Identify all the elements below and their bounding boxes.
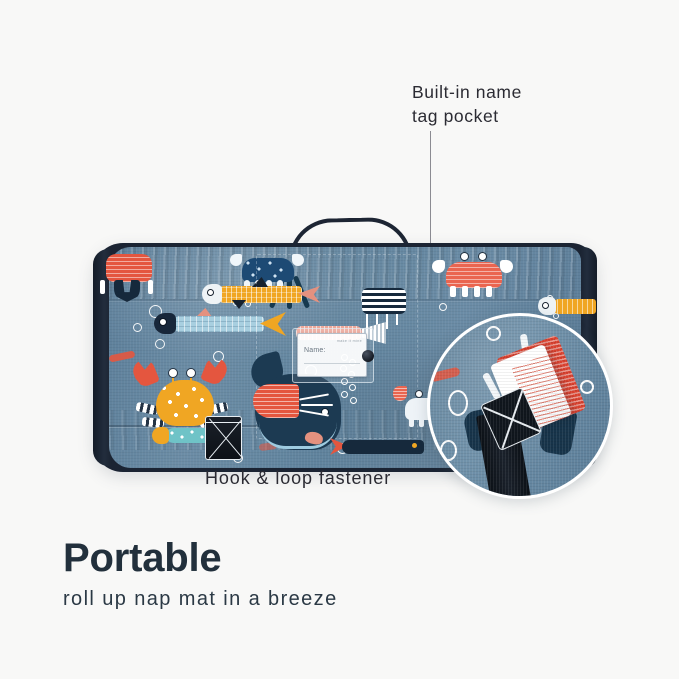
coral-streak-motif xyxy=(429,367,460,383)
crab-motif-coral-top xyxy=(432,248,516,300)
hook-loop-closeup-inset xyxy=(427,313,613,499)
page-subtitle: roll up nap mat in a breeze xyxy=(63,588,338,611)
name-tag-write-line xyxy=(304,363,360,364)
hook-loop-fastener-tab[interactable] xyxy=(205,416,242,460)
name-tag-field-label: Name: xyxy=(304,347,326,354)
name-tag-snap-dot xyxy=(362,350,374,362)
headline-block: Portable roll up nap mat in a breeze xyxy=(63,536,338,611)
crab-motif-coral-edge xyxy=(98,254,160,312)
name-tag-brand-mark: make it mine xyxy=(337,339,362,343)
fish-motif-navy xyxy=(330,436,442,458)
infographic-canvas: Built-in name tag pocket xyxy=(0,0,679,679)
bubble-motif xyxy=(486,326,501,341)
bubble-motif xyxy=(439,303,447,311)
name-tag-pocket[interactable]: make it mine Name: xyxy=(297,333,367,377)
bubble-motif xyxy=(448,390,468,416)
bubble-motif xyxy=(580,380,594,394)
bubble-motif xyxy=(440,440,457,461)
callout-hook-and-loop-fastener: Hook & loop fastener xyxy=(205,466,391,491)
bubble-motif xyxy=(133,323,142,332)
page-title: Portable xyxy=(63,536,338,580)
